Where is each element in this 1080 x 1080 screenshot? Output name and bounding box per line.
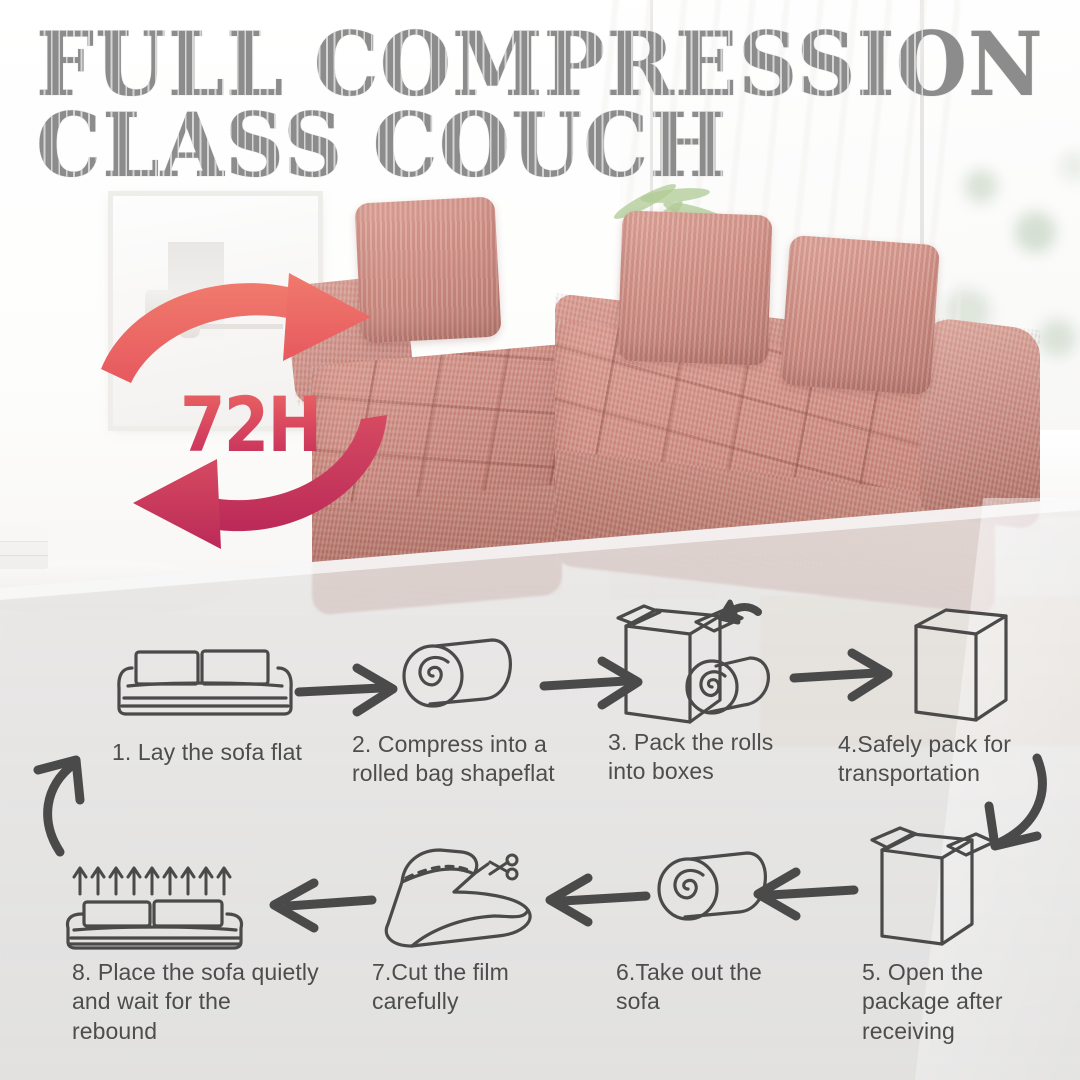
step-2-label: 2. Compress into a rolled bag shapeflat xyxy=(352,730,567,789)
step-8-label: 8. Place the sofa quietly and wait for t… xyxy=(72,958,322,1046)
step-3-label: 3. Pack the rolls into boxes xyxy=(608,728,808,787)
step-1-label: 1. Lay the sofa flat xyxy=(112,738,342,767)
cut-film-scissors-icon xyxy=(358,840,553,955)
arrow-7-to-8[interactable] xyxy=(262,878,377,934)
sofa-flat-icon xyxy=(110,640,300,720)
open-box-with-roll-icon xyxy=(608,600,798,725)
open-box-icon xyxy=(862,820,992,950)
step-7-label: 7.Cut the film carefully xyxy=(372,958,552,1017)
step-5-label: 5. Open the package after receiving xyxy=(862,958,1052,1046)
step-flow: 1. Lay the sofa flat 2. Compress into a … xyxy=(0,0,1080,1080)
sealed-box-icon xyxy=(900,600,1020,725)
rolled-bag-icon xyxy=(655,845,775,935)
poster-canvas: FULL COMPRESSION CLASS COUCH FULL COMPRE… xyxy=(0,0,1080,1080)
rolled-bag-icon xyxy=(400,632,520,722)
arrow-3-to-4[interactable] xyxy=(790,648,900,704)
step-6-label: 6.Take out the sofa xyxy=(616,958,796,1017)
sofa-rebound-icon xyxy=(62,858,257,963)
arrow-8-loop[interactable] xyxy=(18,748,118,858)
arrow-1-to-2[interactable] xyxy=(295,662,405,718)
arrow-6-to-7[interactable] xyxy=(540,872,650,928)
